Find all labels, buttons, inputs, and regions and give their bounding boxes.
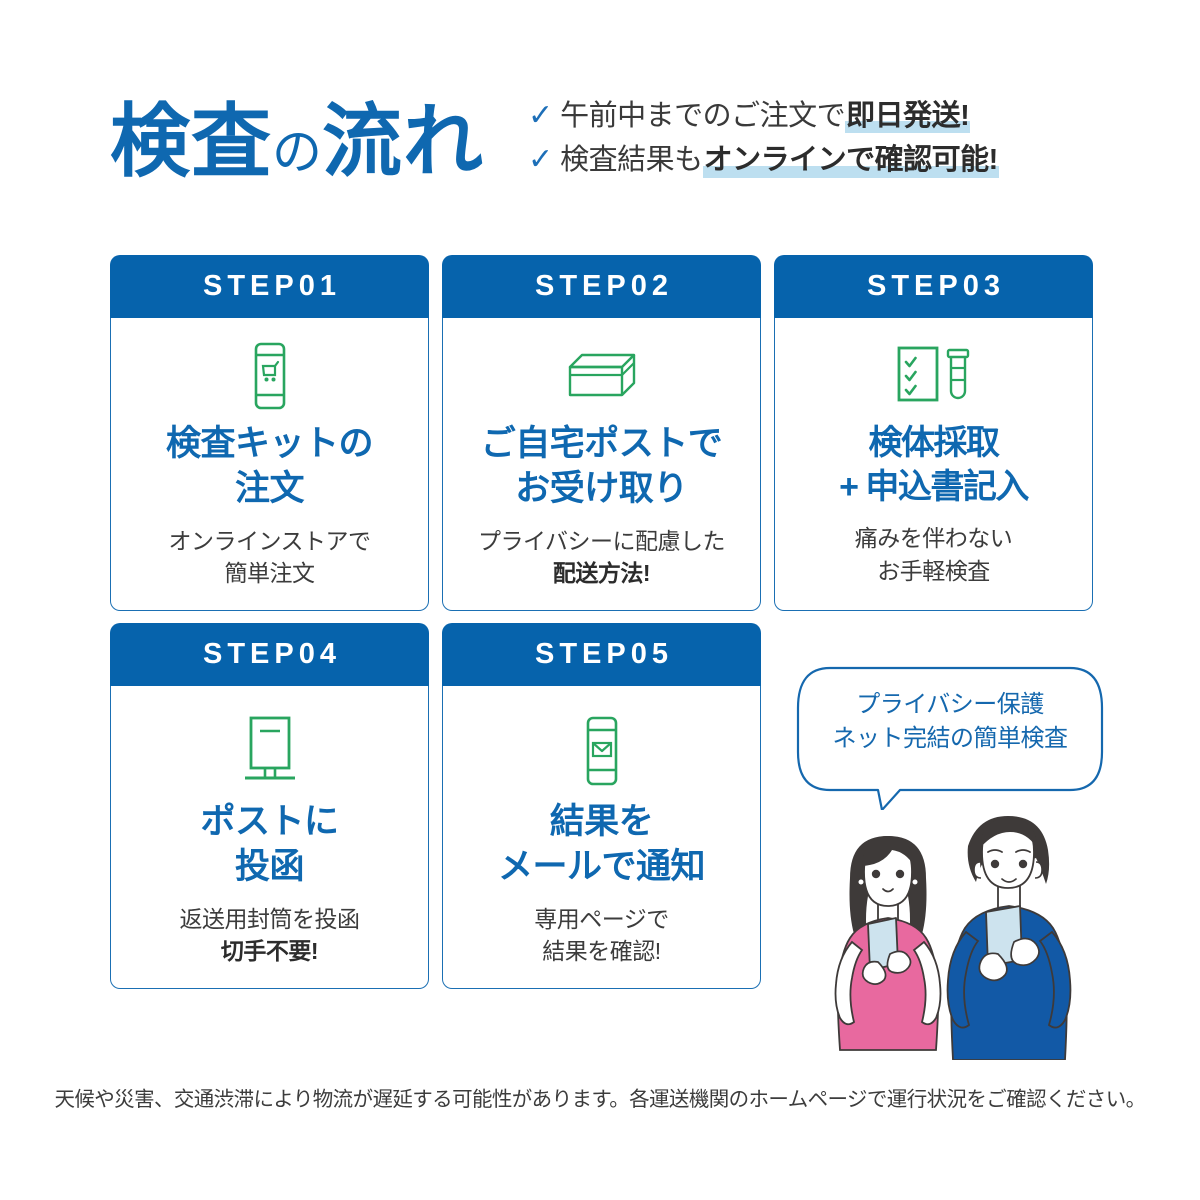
step-card-01-sub-line1: オンラインストアで — [168, 525, 370, 558]
check-icon: ✓ — [528, 101, 553, 131]
checklist-testtube-icon — [895, 340, 973, 412]
step-card-05-sub-line2: 結果を確認! — [534, 935, 669, 968]
header-bullet-1-highlight: 即日発送! — [845, 100, 970, 133]
header-bullet-1-text: 午前中までのご注文で即日発送! — [560, 100, 970, 133]
step-card-02-title: ご自宅ポストで お受け取り — [481, 422, 723, 512]
header-bullet-2-text: 検査結果もオンラインで確認可能! — [560, 144, 999, 177]
step-card-04-title-line2: 投函 — [200, 845, 338, 890]
step-card-02-sub-line1: プライバシーに配慮した — [478, 525, 725, 558]
step-card-05-body: 結果を メールで通知 専用ページで 結果を確認! — [442, 686, 761, 989]
step-card-05-title: 結果を メールで通知 — [498, 800, 705, 890]
step-card-03-title-line2: + 申込書記入 — [839, 466, 1028, 510]
step-card-01-subtitle: オンラインストアで 簡単注文 — [168, 525, 370, 590]
step-card-02-title-line2: お受け取り — [481, 467, 723, 512]
step-card-01: STEP01 検査キットの 注文 オンラインストアで 簡単注文 — [110, 255, 429, 611]
page-title-tail: 流れ — [322, 97, 484, 186]
page-title: 検査の流れ — [110, 92, 484, 184]
page-title-main: 検査 — [110, 97, 272, 186]
page-title-particle: の — [272, 124, 322, 180]
step-card-05-sub-line1: 専用ページで — [534, 903, 669, 936]
footer-note: 天候や災害、交通渋滞により物流が遅延する可能性があります。各運送機関のホームペー… — [0, 1082, 1200, 1112]
step-card-01-body: 検査キットの 注文 オンラインストアで 簡単注文 — [110, 318, 429, 611]
step-card-04-badge: STEP04 — [110, 623, 429, 686]
step-card-04-body: ポストに 投函 返送用封筒を投函 切手不要! — [110, 686, 429, 989]
page-header: 検査の流れ ✓ 午前中までのご注文で即日発送! ✓ 検査結果もオンラインで確認可… — [110, 92, 1110, 210]
step-card-05-subtitle: 専用ページで 結果を確認! — [534, 903, 669, 968]
step-card-02-subtitle: プライバシーに配慮した 配送方法! — [478, 525, 725, 590]
header-bullet-2: ✓ 検査結果もオンラインで確認可能! — [528, 144, 999, 177]
woman-figure — [836, 836, 941, 1050]
couple-with-smartphones-illustration — [790, 790, 1110, 1060]
step-card-01-title-line2: 注文 — [166, 467, 373, 512]
step-card-05: STEP05 結果を メールで通知 専用ページで 結果を確認! — [442, 623, 761, 989]
header-bullet-1-plain: 午前中までのご注文で — [560, 100, 845, 132]
step-card-03: STEP03 検体採取 + 申込書記入 痛みを伴わない — [774, 255, 1093, 611]
step-card-03-subtitle: 痛みを伴わない お手軽検査 — [855, 522, 1013, 587]
step-card-03-sub-line2: お手軽検査 — [855, 555, 1013, 588]
step-card-04-title: ポストに 投函 — [200, 800, 338, 890]
step-card-01-sub-line2: 簡単注文 — [168, 557, 370, 590]
step-card-03-sub-line1: 痛みを伴わない — [855, 522, 1013, 555]
step-card-01-badge: STEP01 — [110, 255, 429, 318]
step-card-03-title-line1: 検体採取 — [839, 422, 1028, 466]
step-card-05-badge: STEP05 — [442, 623, 761, 686]
step-card-01-title-line1: 検査キットの — [166, 422, 373, 467]
package-box-icon — [562, 340, 642, 412]
step-card-04-sub-highlight: 切手不要! — [220, 935, 319, 968]
step-card-02-title-line1: ご自宅ポストで — [481, 422, 723, 467]
header-bullet-2-highlight: オンラインで確認可能! — [703, 144, 999, 177]
step-card-03-title: 検体採取 + 申込書記入 — [839, 422, 1028, 509]
mailbox-icon — [239, 708, 301, 794]
step-card-02-body: ご自宅ポストで お受け取り プライバシーに配慮した 配送方法! — [442, 318, 761, 611]
step-card-02-badge: STEP02 — [442, 255, 761, 318]
header-bullet-2-plain: 検査結果も — [560, 144, 703, 176]
step-card-02-sub-highlight: 配送方法! — [552, 557, 651, 590]
step-card-04-subtitle: 返送用封筒を投函 切手不要! — [180, 903, 360, 968]
man-figure — [948, 816, 1071, 1060]
check-icon: ✓ — [528, 145, 553, 175]
step-card-03-badge: STEP03 — [774, 255, 1093, 318]
header-bullet-1: ✓ 午前中までのご注文で即日発送! — [528, 100, 999, 133]
illustration-zone: プライバシー保護 ネット完結の簡単検査 — [790, 660, 1110, 1060]
step-card-05-title-line2: メールで通知 — [498, 845, 705, 890]
step-card-01-title: 検査キットの 注文 — [166, 422, 373, 512]
smartphone-cart-icon — [247, 340, 293, 412]
step-card-04: STEP04 ポストに 投函 返送用封筒を投函 切手不要! — [110, 623, 429, 989]
step-card-04-title-line1: ポストに — [200, 800, 338, 845]
step-card-03-body: 検体採取 + 申込書記入 痛みを伴わない お手軽検査 — [774, 318, 1093, 611]
step-card-05-title-line1: 結果を — [498, 800, 705, 845]
step-card-04-sub-line1: 返送用封筒を投函 — [180, 903, 360, 936]
step-card-02: STEP02 ご自宅ポストで お受け取り プライバシーに配慮した 配送方法! — [442, 255, 761, 611]
smartphone-mail-icon — [579, 708, 625, 794]
header-bullet-list: ✓ 午前中までのご注文で即日発送! ✓ 検査結果もオンラインで確認可能! — [528, 92, 999, 178]
